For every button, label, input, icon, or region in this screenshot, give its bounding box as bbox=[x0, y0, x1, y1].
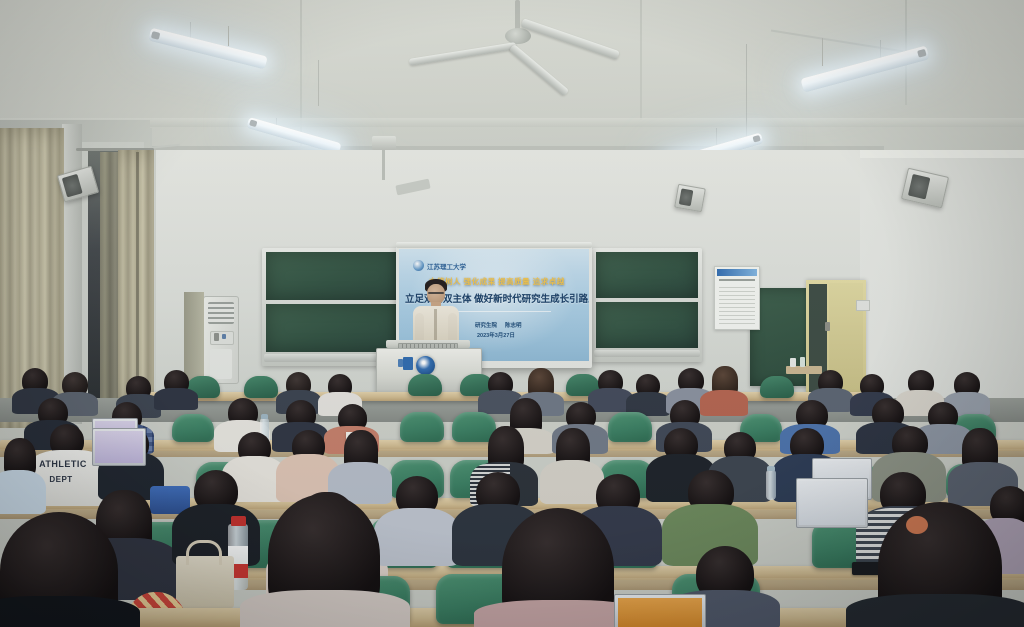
mount-pole bbox=[382, 150, 385, 180]
university-emblem-icon bbox=[416, 356, 435, 375]
laptop[interactable] bbox=[614, 594, 706, 627]
ceiling-mount-bracket bbox=[372, 136, 396, 150]
chair bbox=[244, 376, 278, 398]
ceiling-beam bbox=[0, 118, 1024, 127]
student-body bbox=[374, 508, 460, 566]
chalkboard-left-upper bbox=[266, 252, 398, 300]
university-logo-icon bbox=[413, 260, 424, 271]
wall-column bbox=[184, 292, 204, 384]
bottle-small bbox=[800, 357, 805, 367]
light-hanger bbox=[746, 44, 747, 144]
notice-text-block bbox=[719, 284, 755, 324]
student-body bbox=[0, 596, 140, 627]
chalkboard-right bbox=[592, 248, 702, 362]
slide-divider bbox=[447, 311, 551, 312]
hair-tie bbox=[906, 516, 928, 534]
ceiling-seam bbox=[300, 0, 302, 150]
chair bbox=[608, 412, 652, 442]
chalkboard-right-lower bbox=[596, 302, 698, 348]
student-body bbox=[540, 460, 604, 504]
wall-speaker-icon bbox=[674, 184, 706, 212]
light-hanger bbox=[318, 60, 319, 106]
water-bottle bbox=[766, 470, 776, 500]
cup bbox=[790, 358, 796, 367]
slide-presenter-org: 研究生院 bbox=[475, 321, 497, 329]
slide-presenter-name: 陈志明 bbox=[505, 321, 522, 329]
laptop[interactable] bbox=[92, 428, 146, 466]
student-body bbox=[0, 470, 46, 514]
student-body bbox=[700, 390, 748, 416]
tote-handle bbox=[186, 540, 222, 565]
fan-blade bbox=[521, 18, 620, 60]
light-hanger bbox=[228, 26, 229, 46]
side-table bbox=[786, 366, 822, 374]
door-handle bbox=[825, 322, 830, 331]
ceiling-fan bbox=[470, 0, 620, 80]
chalk-tray bbox=[594, 350, 700, 357]
chair bbox=[760, 376, 794, 398]
laptop-screen bbox=[618, 598, 702, 627]
screen-roller bbox=[396, 242, 592, 248]
chair bbox=[172, 414, 214, 442]
tshirt-text-line1: ATHLETIC bbox=[28, 460, 98, 469]
student-body bbox=[240, 590, 410, 627]
notice-header bbox=[717, 269, 757, 276]
curtain-shadow bbox=[136, 152, 139, 400]
ceiling-seam bbox=[640, 0, 642, 120]
student-body bbox=[846, 594, 1024, 627]
slide-university-name: 江苏理工大学 bbox=[427, 261, 466, 271]
lecture-hall-photo: 江苏理工大学 立德树人 强化成果 提高质量 追求卓越 立足双肩双主体 做好新时代… bbox=[0, 0, 1024, 627]
light-switch[interactable] bbox=[856, 300, 870, 311]
air-conditioner bbox=[203, 296, 239, 384]
ac-vent bbox=[208, 302, 234, 324]
notice-board bbox=[714, 266, 760, 330]
wall-trim bbox=[860, 150, 1024, 158]
student-body bbox=[154, 388, 198, 410]
curtain-middle bbox=[100, 152, 120, 400]
laptop[interactable] bbox=[796, 478, 868, 528]
chair bbox=[408, 374, 442, 396]
chalkboard-right-upper bbox=[596, 252, 698, 298]
light-hanger bbox=[822, 38, 823, 66]
slide-date: 2023年3月27日 bbox=[477, 331, 515, 339]
chair bbox=[400, 412, 444, 442]
